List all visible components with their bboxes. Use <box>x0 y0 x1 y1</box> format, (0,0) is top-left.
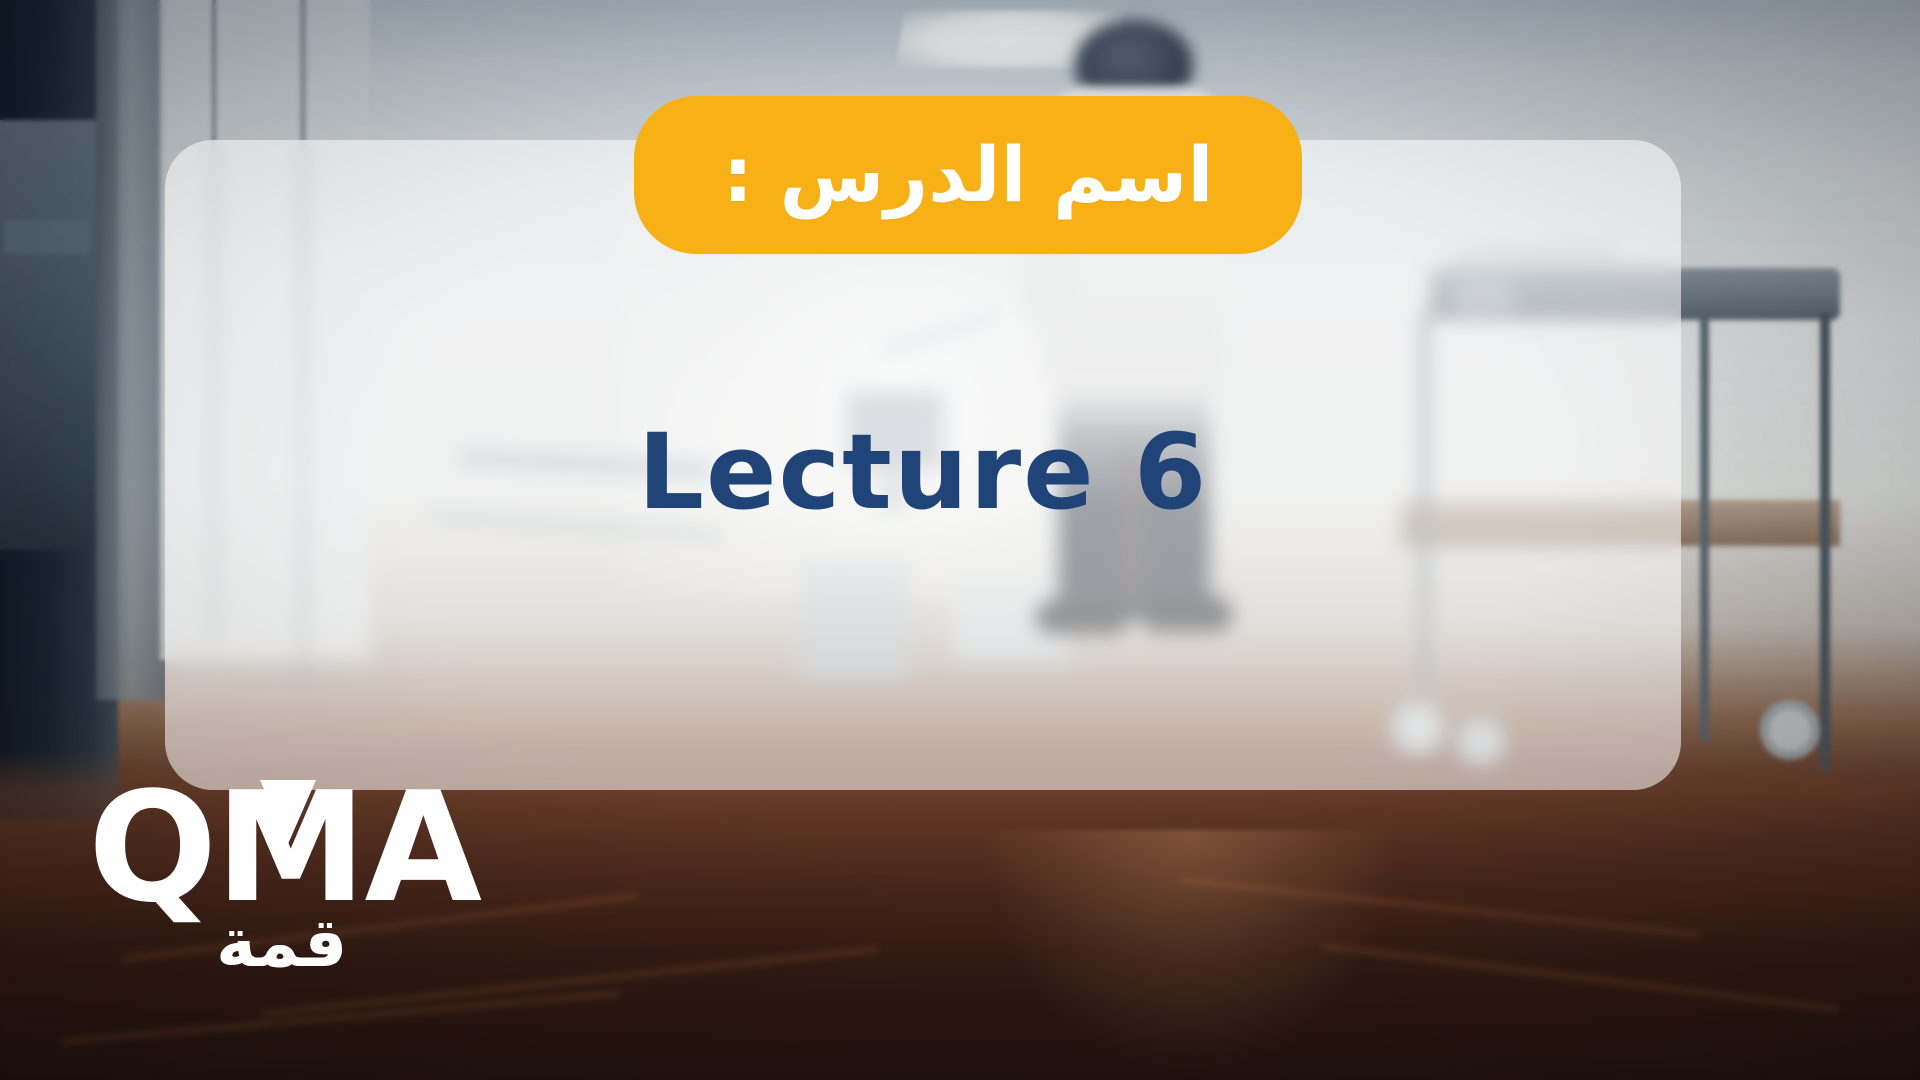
lesson-name-label: اسم الدرس : <box>723 137 1214 213</box>
slide-root: اسم الدرس : Lecture 6 QMA قمة <box>0 0 1920 1080</box>
lecture-title: Lecture 6 <box>165 420 1681 524</box>
brand-logo: QMA قمة <box>88 772 488 1012</box>
brand-mark-notch-icon <box>260 780 316 844</box>
lesson-name-banner: اسم الدرس : <box>634 96 1302 254</box>
brand-arabic-name: قمة <box>216 910 347 978</box>
